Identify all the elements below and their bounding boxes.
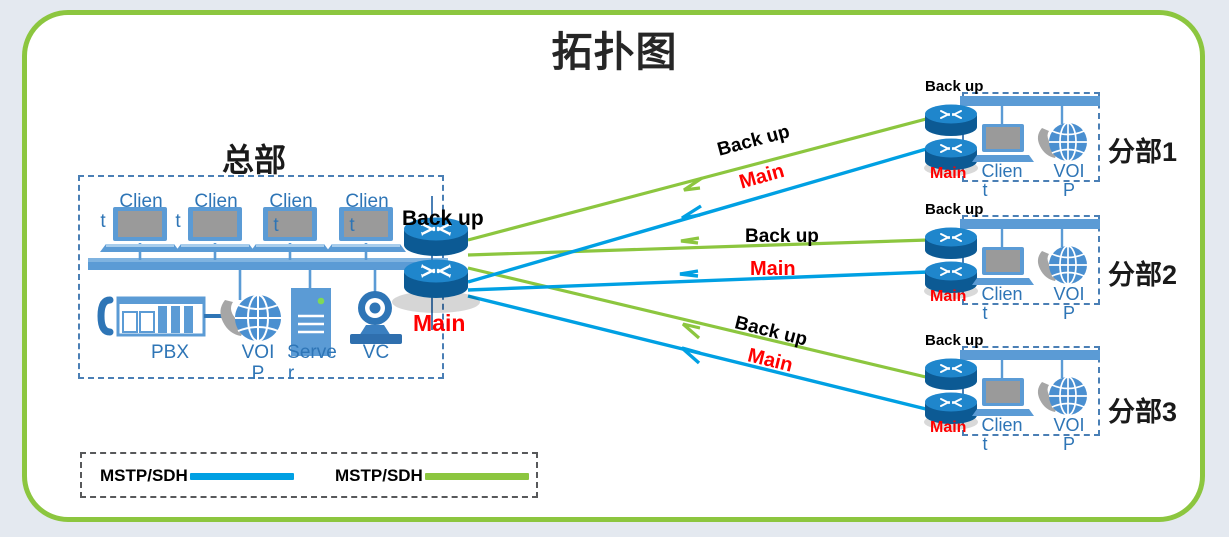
legend-label-backup: MSTP/SDH xyxy=(335,466,423,486)
legend-label-main: MSTP/SDH xyxy=(100,466,188,486)
legend-item-backup: MSTP/SDH xyxy=(335,466,529,486)
legend-swatch-main xyxy=(190,473,294,480)
branch-3-label-client: Clien xyxy=(974,416,1030,434)
legend-swatch-backup xyxy=(425,473,529,480)
branch-3-bus-bar xyxy=(960,350,1100,360)
branch-3-label-voip: VOI xyxy=(1044,416,1094,434)
branch-3-router-backup xyxy=(925,359,977,391)
branch-3-title: 分部3 xyxy=(1108,390,1177,429)
legend-item-main: MSTP/SDH xyxy=(100,466,294,486)
branch-3-label-voip-b: P xyxy=(1044,435,1094,453)
branch-3-backup-label: Back up xyxy=(925,332,983,349)
branch-3-main-label: Main xyxy=(930,419,966,437)
branch-3-label-client-b: t xyxy=(974,435,996,453)
branch-3-laptop-icon xyxy=(972,378,1034,416)
topology-diagram-canvas: 拓扑图 xyxy=(0,0,1229,537)
branch-3-voip-icon xyxy=(1038,377,1087,415)
